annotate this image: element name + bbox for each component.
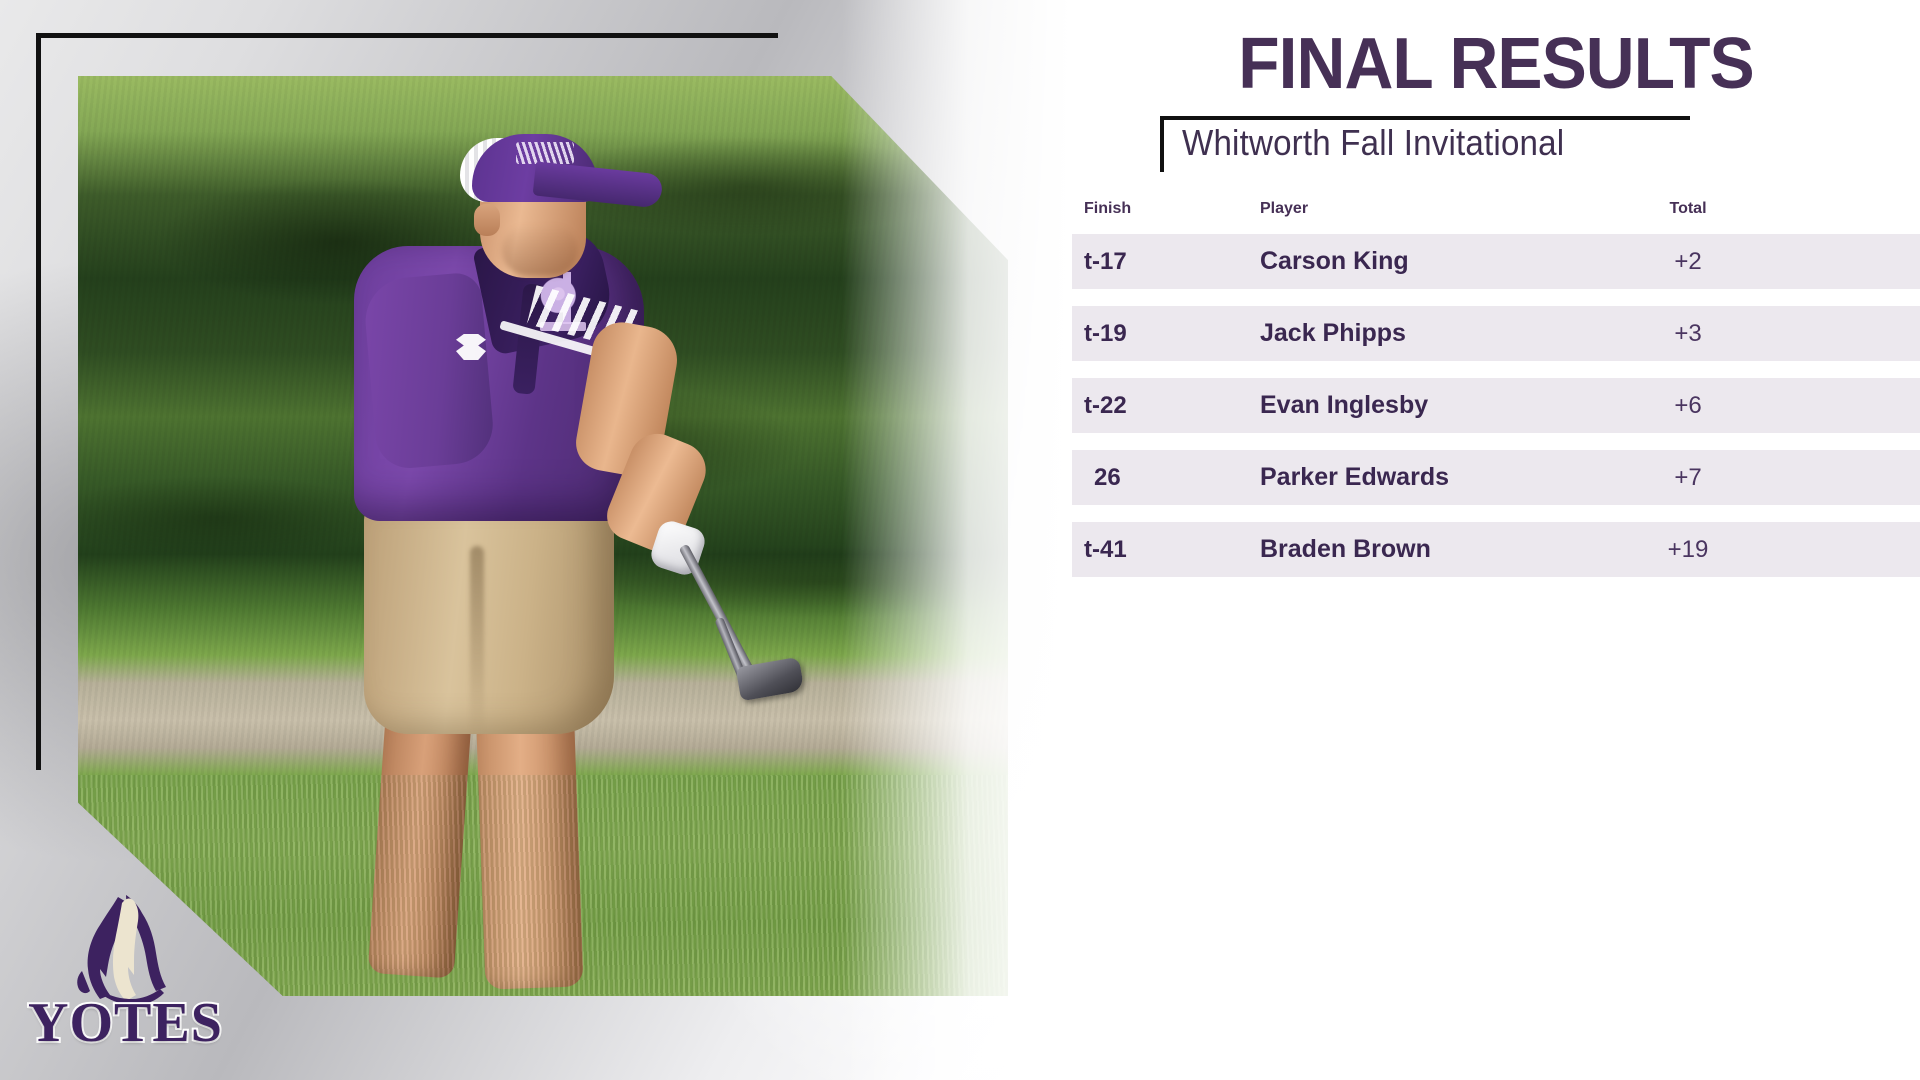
cell-total: +19: [1628, 522, 1748, 577]
golf-club-shaft: [679, 544, 758, 681]
cell-finish: t-19: [1084, 306, 1254, 361]
yotes-wordmark: YOTES: [28, 995, 218, 1051]
table-row: t-22 Evan Inglesby +6: [1072, 378, 1920, 433]
golfer-sleeve: [362, 271, 496, 471]
subtitle-block: Whitworth Fall Invitational: [1160, 116, 1720, 176]
frame-rule-horizontal: [36, 33, 778, 38]
cell-player: Jack Phipps: [1260, 306, 1620, 361]
golfer-jaw-shadow: [502, 224, 578, 276]
table-row: 26 Parker Edwards +7: [1072, 450, 1920, 505]
panel-fade-overlay: [842, 0, 1072, 1080]
cell-finish: t-17: [1084, 234, 1254, 289]
cell-total: +2: [1628, 234, 1748, 289]
golfer-shorts: [364, 504, 614, 734]
cap-logo-icon: [516, 142, 574, 164]
golfer-shorts-fold: [470, 546, 484, 736]
cell-total: +3: [1628, 306, 1748, 361]
page-title: FINAL RESULTS: [1120, 28, 1872, 100]
cell-player: Braden Brown: [1260, 522, 1620, 577]
cell-player: Parker Edwards: [1260, 450, 1620, 505]
event-name: Whitworth Fall Invitational: [1182, 122, 1564, 164]
column-header-player: Player: [1260, 200, 1308, 218]
photo-panel: YOTES: [0, 0, 1072, 1080]
golfer-ear: [474, 204, 500, 236]
results-panel: FINAL RESULTS Whitworth Fall Invitationa…: [1072, 0, 1920, 1080]
frame-rule-vertical: [36, 33, 41, 770]
results-table: Finish Player Total t-17 Carson King +2 …: [1072, 200, 1920, 594]
cell-total: +6: [1628, 378, 1748, 433]
table-header-row: Finish Player Total: [1072, 200, 1920, 234]
subtitle-rule-horizontal: [1160, 116, 1690, 120]
table-row: t-19 Jack Phipps +3: [1072, 306, 1920, 361]
cell-finish: t-41: [1084, 522, 1254, 577]
cell-finish: 26: [1084, 450, 1254, 505]
yotes-logo: YOTES: [28, 895, 218, 1055]
cell-player: Carson King: [1260, 234, 1620, 289]
subtitle-rule-vertical: [1160, 116, 1164, 172]
cell-finish: t-22: [1084, 378, 1254, 433]
cell-player: Evan Inglesby: [1260, 378, 1620, 433]
table-row: t-17 Carson King +2: [1072, 234, 1920, 289]
cell-total: +7: [1628, 450, 1748, 505]
howling-coyote-icon: [76, 895, 176, 1007]
column-header-finish: Finish: [1084, 200, 1131, 218]
table-row: t-41 Braden Brown +19: [1072, 522, 1920, 577]
column-header-total: Total: [1628, 200, 1748, 218]
